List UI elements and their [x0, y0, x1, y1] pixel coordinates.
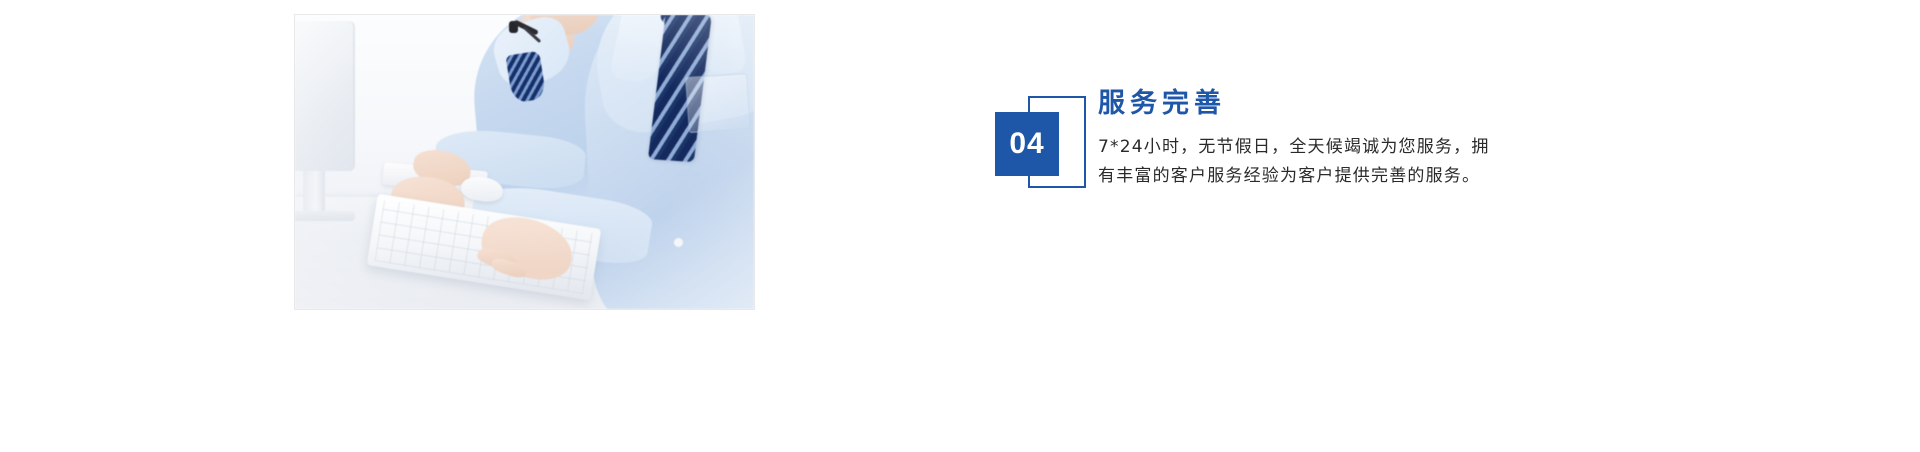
agent-near-shirt-pocket	[685, 73, 751, 133]
agent-near-cuff-button	[673, 237, 684, 248]
badge-solid-square: 04	[995, 112, 1059, 176]
monitor-screen	[295, 21, 355, 171]
monitor-stand-neck	[303, 171, 325, 213]
feature-title: 服务完善	[1098, 88, 1498, 120]
photo-canvas	[295, 15, 754, 309]
feature-description: 7*24小时，无节假日，全天候竭诚为您服务，拥有丰富的客户服务经验为客户提供完善…	[1098, 133, 1490, 191]
badge-number-label: 04	[1009, 129, 1044, 159]
feature-section: 04 服务完善 7*24小时，无节假日，全天候竭诚为您服务，拥有丰富的客户服务经…	[0, 0, 1920, 452]
step-number-badge: 04	[995, 96, 1087, 192]
monitor-stand-base	[295, 211, 355, 221]
feature-text-column: 服务完善 7*24小时，无节假日，全天候竭诚为您服务，拥有丰富的客户服务经验为客…	[1098, 88, 1498, 191]
customer-service-photo	[294, 14, 755, 310]
